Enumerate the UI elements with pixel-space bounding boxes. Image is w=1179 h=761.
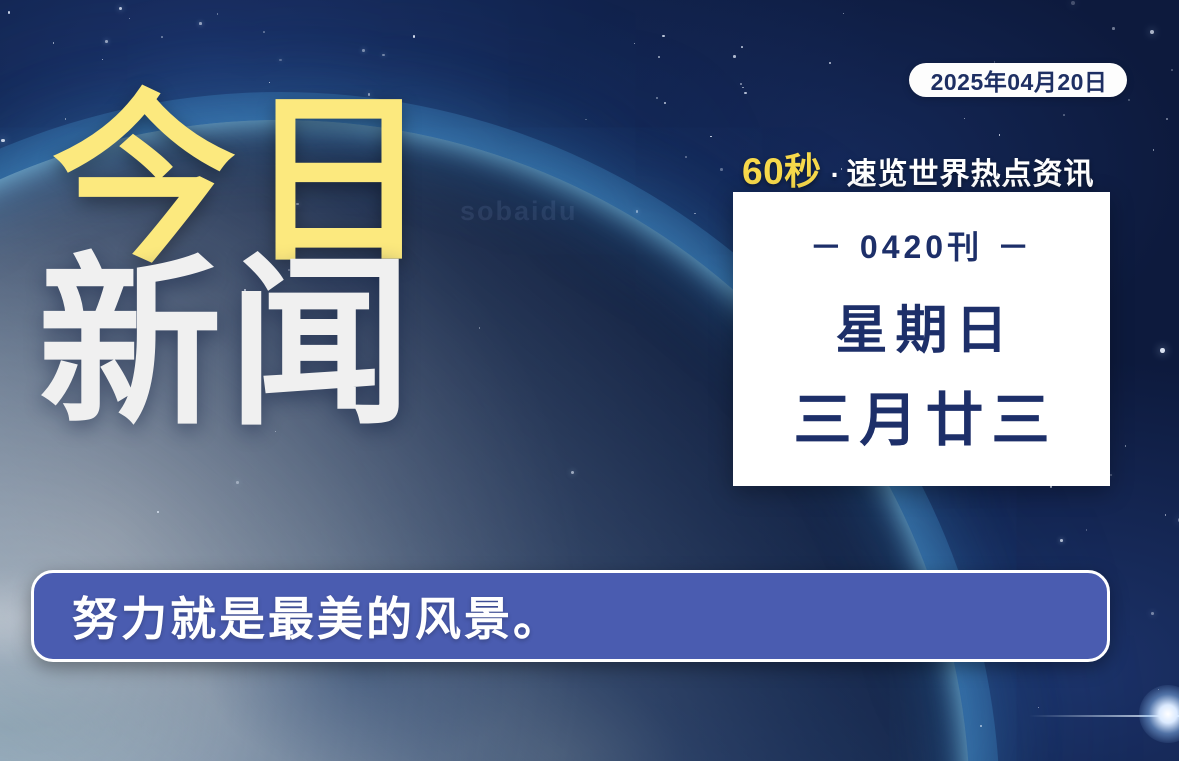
title-line-news: 新闻 bbox=[38, 259, 440, 428]
issue-dash-right: － bbox=[997, 222, 1033, 268]
issue-dash-left: － bbox=[810, 222, 846, 268]
date-card: － 0420刊 － 星期日 三月廿三 bbox=[733, 192, 1110, 486]
issue-number: 0420刊 bbox=[860, 222, 983, 268]
date-badge: 2025年04月20日 bbox=[909, 63, 1127, 97]
issue-number-row: － 0420刊 － bbox=[810, 222, 1033, 268]
quote-text: 努力就是最美的风景。 bbox=[72, 583, 562, 649]
tagline-separator: · bbox=[831, 159, 841, 191]
watermark-text: sobaidu bbox=[460, 196, 578, 227]
tagline-text: 速览世界热点资讯 bbox=[846, 149, 1094, 193]
weekday-label: 星期日 bbox=[835, 288, 1015, 363]
poster-title: 今日 新闻 bbox=[52, 96, 440, 429]
lunar-date: 三月廿三 bbox=[793, 373, 1057, 457]
news-poster: sobaidu 今日 新闻 2025年04月20日 60秒 · 速览世界热点资讯… bbox=[0, 0, 1179, 761]
tagline-seconds: 60秒 bbox=[742, 141, 822, 195]
tagline: 60秒 · 速览世界热点资讯 bbox=[742, 141, 1094, 195]
quote-banner: 努力就是最美的风景。 bbox=[31, 570, 1110, 662]
